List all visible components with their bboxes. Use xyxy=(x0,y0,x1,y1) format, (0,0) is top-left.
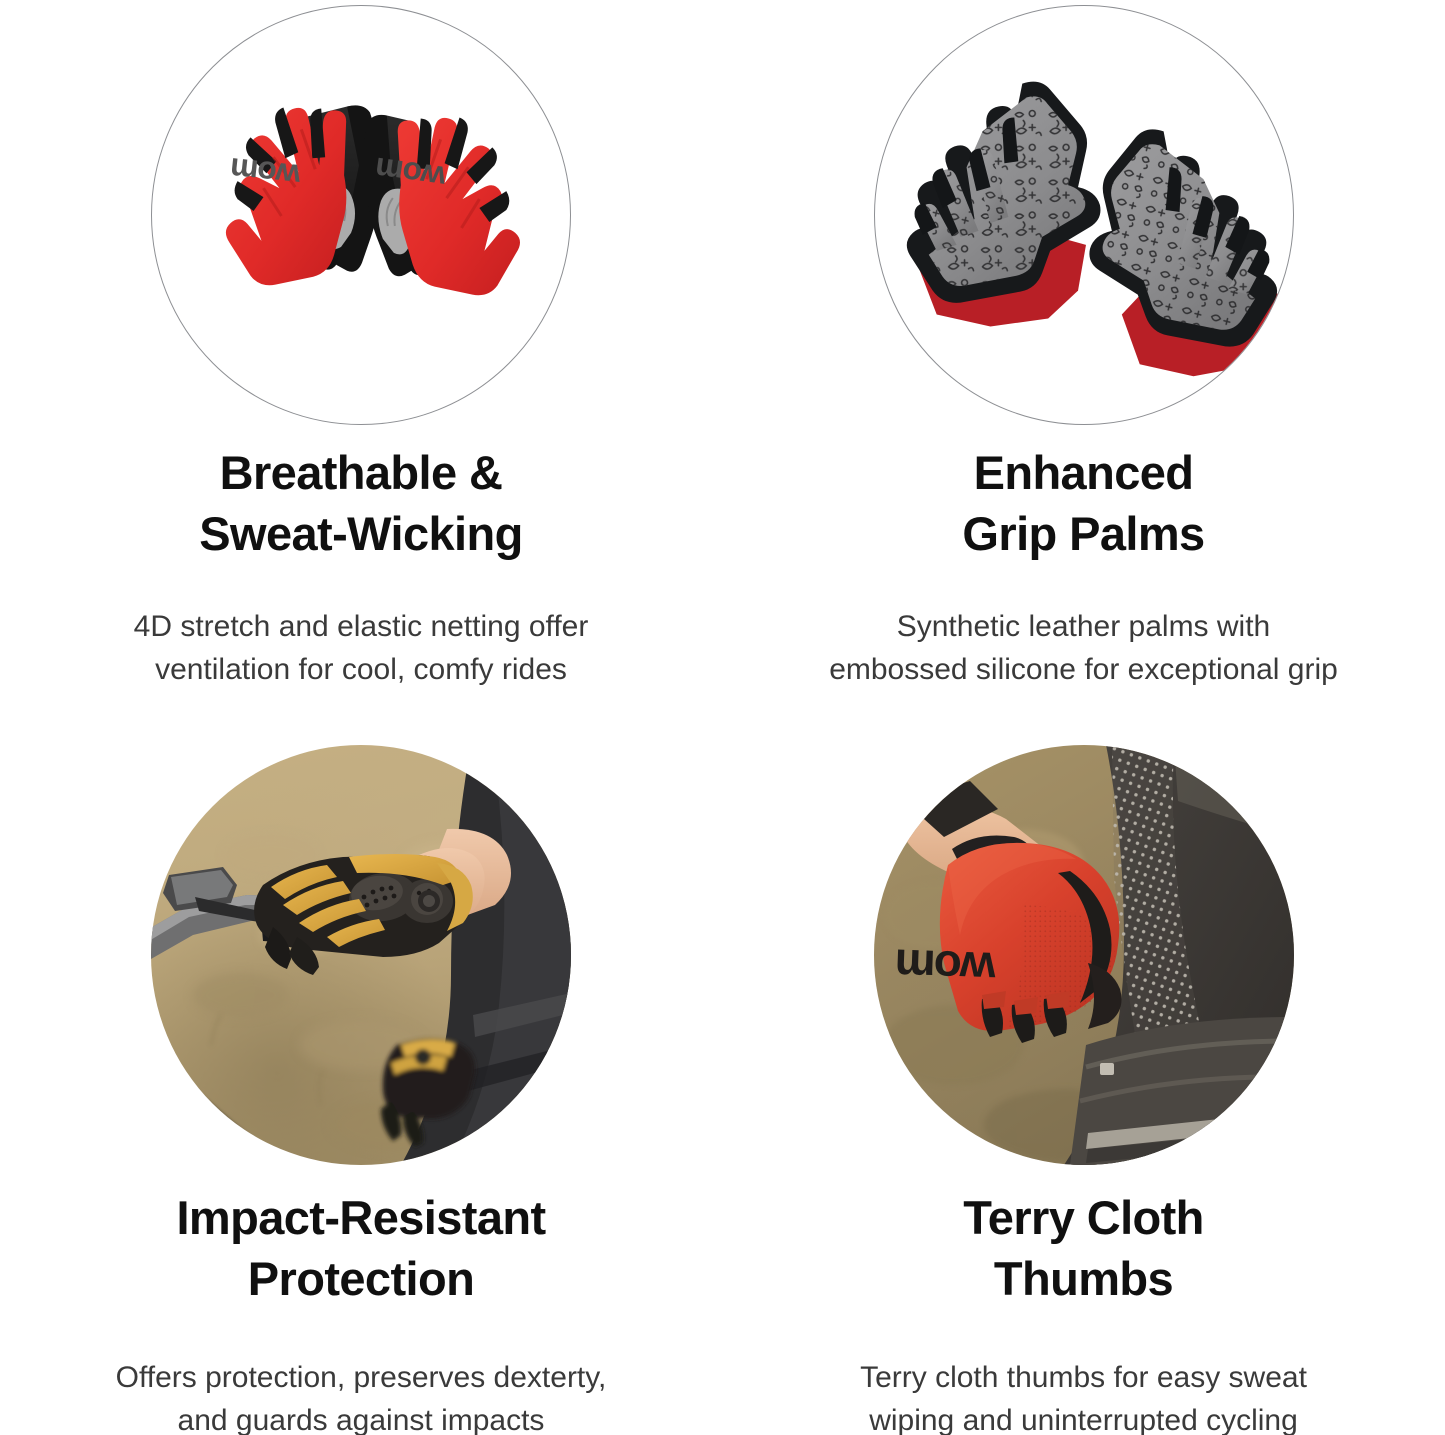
red-cycling-gloves-icon: wom xyxy=(152,6,570,424)
feature-title: Impact-Resistant Protection xyxy=(176,1187,545,1309)
feature-title: Terry Cloth Thumbs xyxy=(963,1187,1204,1309)
feature-title: Enhanced Grip Palms xyxy=(962,442,1204,564)
grip-palm-gloves-icon xyxy=(875,6,1293,424)
media-circle-gloved-hand-on-handlebar xyxy=(151,745,571,1165)
svg-text:wom: wom xyxy=(895,940,997,995)
feature-description: 4D stretch and elastic netting offer ven… xyxy=(134,606,589,691)
feature-card-breathable-sweat-wicking: wom xyxy=(0,0,722,737)
svg-text:wom: wom xyxy=(229,151,303,194)
feature-description: Synthetic leather palms with embossed si… xyxy=(829,606,1338,691)
media-circle-grey-patterned-palm-gloves-pair xyxy=(874,5,1294,425)
media-circle-red-glove-wiping-on-jersey: wom xyxy=(874,745,1294,1165)
feature-card-impact-resistant-protection: Impact-Resistant Protection Offers prote… xyxy=(0,737,722,1435)
feature-description: Offers protection, preserves dexterty, a… xyxy=(116,1357,607,1435)
feature-grid: wom xyxy=(0,0,1445,1435)
terry-thumb-scene-illustration: wom xyxy=(874,745,1294,1165)
feature-card-enhanced-grip-palms: Enhanced Grip Palms Synthetic leather pa… xyxy=(722,0,1445,737)
media-circle-red-cycling-gloves-pair: wom xyxy=(151,5,571,425)
feature-description: Terry cloth thumbs for easy sweat wiping… xyxy=(860,1357,1307,1435)
feature-card-terry-cloth-thumbs: wom Terry Cloth Thumbs Terry cloth thumb… xyxy=(722,737,1445,1435)
feature-title: Breathable & Sweat-Wicking xyxy=(199,442,522,564)
handlebar-scene-illustration xyxy=(151,745,571,1165)
